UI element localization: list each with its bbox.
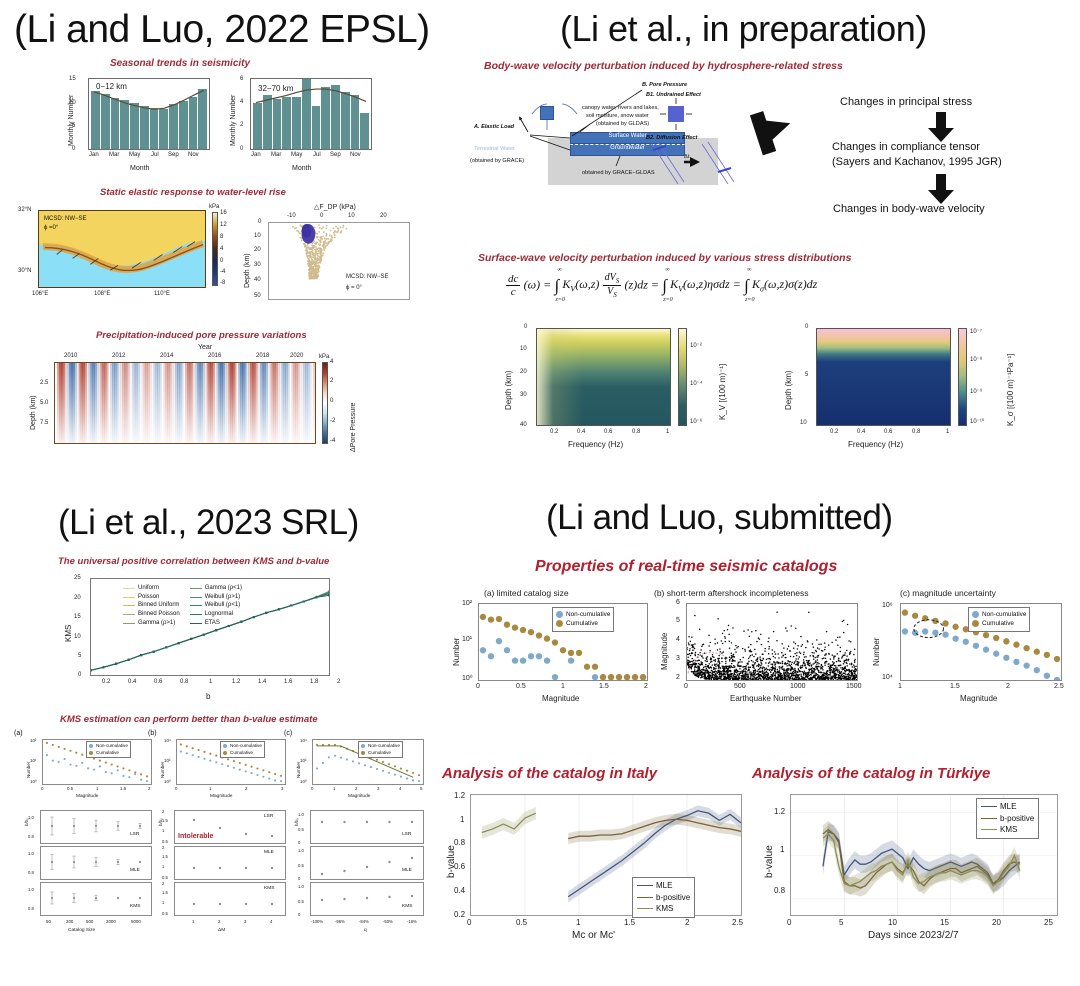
dot-swatch-icon [223, 751, 227, 755]
ytick: 10 [520, 346, 527, 352]
chart-kernel-ksigma: Depth (km) Frequency (Hz) 0 5 10 0.2 0.4… [768, 310, 1018, 460]
xtick: 1 [209, 786, 211, 791]
legend-label: Non-cumulative [96, 743, 128, 750]
legend-item: KMS [637, 903, 690, 915]
line-swatch-icon [981, 818, 997, 819]
legend-label: Cumulative [368, 750, 391, 757]
xtick: Sep [330, 152, 341, 158]
legend-label: Weibull (ρ>1) [205, 593, 240, 602]
xtick: 0.5 [67, 786, 73, 791]
kms-xlabel: b [206, 692, 210, 701]
line-swatch-icon [981, 829, 997, 830]
chart-italy-bvalue: MLE b-positive KMS b-value Mc or Mc' 0.2… [440, 790, 760, 980]
xtick: 0.2 [550, 429, 558, 435]
label-delta-t: Δt [684, 154, 689, 160]
xtick: 0.6 [604, 429, 612, 435]
xtick: 1.6 [284, 679, 292, 685]
xtick: 0 [311, 786, 313, 791]
legend-item: ETAS [190, 619, 242, 628]
xtick: 1.5 [950, 683, 960, 690]
legend-item: Cumulative [223, 750, 262, 757]
ytick: 0.8 [774, 886, 785, 895]
ytick: 10⁰ [300, 779, 307, 785]
subpanel-c-legend: Non-cumulative Cumulative [358, 741, 403, 758]
xtick: 1000 [790, 683, 806, 690]
chart-pore-pressure: Year 2010 2012 2014 2016 2018 2020 Depth… [28, 344, 398, 474]
line-swatch-icon [123, 614, 135, 615]
ytick: 2 [162, 881, 164, 886]
ytick: 0 [805, 324, 808, 330]
legend-label: Non-cumulative [368, 743, 400, 750]
heading-body-wave: Body-wave velocity perturbation induced … [484, 60, 843, 72]
ytick: 6 [240, 76, 243, 82]
xtick: 2 [355, 786, 357, 791]
line-swatch-icon [123, 605, 135, 606]
kernel-kv-xlabel: Frequency (Hz) [568, 440, 623, 449]
legend-label: Cumulative [982, 619, 1014, 628]
line-swatch-icon [190, 614, 202, 615]
ytick: 10¹ [30, 758, 36, 763]
ytick: 10² [300, 758, 306, 763]
cb-tick: 10⁻² [690, 342, 702, 349]
ytick: 6 [676, 599, 680, 606]
cb-tick: 10⁻⁴ [690, 380, 702, 387]
label-undrained-effect: B1. Undrained Effect [646, 92, 701, 98]
depth-scatter-ylabel: Depth (km) [244, 253, 251, 288]
xtick: 2 [218, 919, 220, 924]
chart-limited-catalog-size: (a) limited catalog size Non-cumulative … [444, 588, 659, 718]
turkiye-ylabel: b-value [764, 845, 775, 878]
xtick: 2 [245, 786, 247, 791]
map-features [39, 211, 205, 288]
subpanel-b-bottom-xlabel: ΔM [218, 928, 225, 933]
xtick: Nov [350, 152, 361, 158]
kernel-ksigma-heatmap [816, 328, 951, 426]
chart-aftershock-incompleteness: (b) short-term aftershock incompleteness… [652, 588, 870, 718]
xtick: 20 [380, 213, 387, 219]
subpanel-b-bottom-ylabel: b/b₀ [158, 818, 163, 826]
ytick: 0 [298, 876, 300, 881]
panel-b-points [687, 604, 857, 681]
legend-label: Gamma (ρ<1) [205, 584, 242, 593]
ytick: 5 [78, 653, 81, 659]
kernel-kv-colorbar-label: K_V [(100 m)⁻¹] [718, 364, 727, 420]
ytick: 0.8 [28, 834, 34, 839]
ytick: 0 [524, 324, 527, 330]
ytick: 20 [74, 595, 81, 601]
xtick: 1500 [846, 683, 862, 690]
legend-item: Cumulative [972, 619, 1026, 628]
ytick: 5 [676, 617, 680, 624]
depth-scatter-axes [268, 222, 410, 300]
line-swatch-icon [190, 605, 202, 606]
xtick: 2000 [106, 919, 116, 924]
ytick: 0 [298, 840, 300, 845]
ytick: 0 [78, 672, 81, 678]
xtick: 0.8 [632, 429, 640, 435]
xtick: 500 [734, 683, 746, 690]
ytick: 1.0 [298, 884, 304, 889]
pore-axes [54, 362, 316, 444]
legend-item: b-positive [981, 813, 1034, 825]
xtick: 0 [175, 786, 177, 791]
pore-ylabel: Depth (km) [30, 395, 37, 430]
panel-a-title: (a) limited catalog size [484, 588, 569, 598]
legend-item: Gamma (ρ<1) [190, 584, 242, 593]
legend-label: Cumulative [566, 619, 598, 628]
xtick: 0.2 [102, 679, 110, 685]
legend-item: Binned Uniform [123, 601, 180, 610]
ytick: 4 [240, 99, 243, 105]
italy-legend: MLE b-positive KMS [632, 877, 695, 918]
xtick: Jan [251, 152, 261, 158]
cb-tick: 12 [220, 222, 227, 228]
cb-tick: -4 [220, 269, 225, 275]
xtick: 0.4 [857, 429, 865, 435]
xtick: 1 [96, 786, 98, 791]
dot-swatch-icon [361, 744, 365, 748]
pore-colorbar-unit: kPa [319, 354, 329, 360]
map-xtick: 108°E [94, 291, 110, 297]
chart-seasonal-shallow: 0−12 km Monthly Number Month 0 5 10 15 J… [60, 72, 220, 177]
line-swatch-icon [637, 885, 653, 886]
legend-item: Non-cumulative [89, 743, 128, 750]
cb-tick: 0 [220, 258, 223, 264]
kernel-kv-colorbar [678, 328, 687, 426]
map-colorbar-unit: kPa [209, 204, 219, 210]
quadrant-title-submitted: (Li and Luo, submitted) [546, 498, 892, 538]
xtick: -96% [335, 919, 345, 924]
legend-label: Weibull (ρ<1) [205, 601, 240, 610]
panel-b-title: (b) short-term aftershock incompleteness [654, 588, 808, 598]
cb-tick: -2 [330, 418, 335, 424]
kernel-ksigma-colorbar [958, 328, 967, 426]
label-grace: (obtained by GRACE) [470, 158, 524, 164]
legend-item: Weibull (ρ<1) [190, 601, 242, 610]
chart-depth-scatter: △F_DP (kPa) Depth (km) -10 0 10 20 0 10 … [236, 200, 426, 315]
legend-item: MLE [981, 801, 1034, 813]
legend-item: Non-cumulative [223, 743, 262, 750]
cb-tick: 10⁻⁷ [970, 328, 982, 335]
legend-item: Non-cumulative [361, 743, 400, 750]
depth-scatter-points [269, 223, 409, 300]
ytick: 1.2 [774, 807, 785, 816]
xtick: 50 [46, 919, 51, 924]
subpanel-a-legend: Non-cumulative Cumulative [86, 741, 131, 758]
ytick: 2 [162, 809, 164, 814]
xtick: 1.2 [232, 679, 240, 685]
cb-tick: 10⁻⁶ [690, 418, 702, 425]
xtick: Jul [151, 152, 159, 158]
heading-surface-wave: Surface-wave velocity perturbation induc… [478, 252, 851, 264]
subpanel-group-a: (a) Non-cumulative Cumulative Number Mag… [14, 730, 160, 980]
ytick: 0.5 [162, 839, 168, 844]
legend-label: Cumulative [230, 750, 253, 757]
kernel-kv-ylabel: Depth (km) [504, 370, 513, 410]
surface-wave-equation: dc c (ω) = ∫∞z=0 KV(ω,z) dVS VS (z)dz = … [506, 272, 817, 299]
ytick: 10² [164, 758, 170, 763]
xtick: -84% [359, 919, 369, 924]
legend-label: Cumulative [96, 750, 119, 757]
legend-item: Poisson [123, 593, 180, 602]
legend-label: Binned Poisson [138, 610, 180, 619]
ytick: 2.5 [40, 380, 48, 386]
xtick: 1 [946, 429, 949, 435]
chart-turkiye-bvalue: MLE b-positive KMS b-value Days since 20… [758, 790, 1078, 980]
ytick: 3 [676, 655, 680, 662]
label-diffusion-effect: B2. Diffusion Effect [646, 135, 697, 141]
cb-tick: 8 [220, 234, 223, 240]
heading-properties-realtime: Properties of real-time seismic catalogs [535, 558, 837, 576]
legend-label: Non-cumulative [982, 610, 1026, 619]
ytick: 0.8 [28, 870, 34, 875]
panel-a-legend: Non-cumulative Cumulative [552, 607, 614, 632]
ytick: 15 [74, 614, 81, 620]
panel-a-ylabel: Number [452, 638, 461, 666]
subpanel-c-bottom-xlabel: q [364, 928, 367, 933]
xtick: May [129, 152, 140, 158]
ytick: 5 [72, 123, 75, 129]
subpanel-c-points [310, 810, 424, 916]
ytick: 30 [520, 392, 527, 398]
cb-tick: 2 [330, 378, 333, 384]
ytick: 5 [805, 372, 808, 378]
xtick: -10 [287, 213, 296, 219]
ytick: 1 [162, 900, 164, 905]
kernel-ksigma-colorbar-label: K_σ [(100 m)⁻¹Pa⁻¹] [1006, 353, 1015, 426]
xtick: -100% [311, 919, 323, 924]
legend-item: Cumulative [556, 619, 610, 628]
subpanel-group-b: (b) Non-cumulative Cumulative Number Mag… [148, 730, 294, 980]
map-colorbar [212, 212, 218, 286]
ytick: 10 [254, 233, 261, 239]
legend-label: b-positive [656, 892, 690, 904]
line-swatch-icon [637, 897, 653, 898]
flow-compliance-tensor: Changes in compliance tensor [832, 141, 980, 153]
line-swatch-icon [190, 588, 202, 589]
delta-f-dp-label: △F_DP (kPa) [314, 204, 356, 211]
cb-tick: 16 [220, 210, 227, 216]
label-terrestrial-water: Terrestrial Water [474, 146, 515, 152]
panel-c-xlabel: Magnitude [960, 694, 997, 703]
xtick: 500 [86, 919, 93, 924]
label-pore-pressure: B. Pore Pressure [642, 82, 687, 88]
ytick: 1 [162, 864, 164, 869]
ytick: 0.2 [454, 910, 465, 919]
subpanel-a-ylabel: Number [26, 762, 31, 778]
ytick: 7.5 [40, 420, 48, 426]
xtick: 2.5 [732, 918, 743, 927]
xtick: 0.8 [180, 679, 188, 685]
ytick: 0 [240, 146, 243, 152]
dot-swatch-icon [972, 620, 979, 627]
legend-item: Lognormal [190, 610, 242, 619]
xtick: 2 [337, 679, 340, 685]
ytick: 20 [254, 247, 261, 253]
xtick: Jan [89, 152, 99, 158]
panel-letter-a: (a) [14, 730, 23, 737]
xtick: 1.4 [258, 679, 266, 685]
ytick: 10² [30, 738, 36, 743]
xtick: 1 [666, 429, 669, 435]
subpanel-c-bottom-ylabel: b/b₀ [294, 818, 299, 826]
subpanel-b-legend: Non-cumulative Cumulative [220, 741, 265, 758]
legend-item: Cumulative [89, 750, 128, 757]
seasonal-deep-annotation: 32−70 km [258, 84, 293, 93]
flow-body-wave-velocity: Changes in body-wave velocity [833, 203, 985, 215]
heading-universal-correlation: The universal positive correlation betwe… [58, 556, 329, 567]
ytick: 0.5 [298, 863, 304, 868]
cb-tick: 10⁻¹⁰ [970, 418, 984, 425]
legend-item: Non-cumulative [972, 610, 1026, 619]
label-canopy-1: canopy water, rivers and lakes, [582, 105, 659, 111]
legend-item: b-positive [637, 892, 690, 904]
map-ytick-top: 32°N [18, 207, 31, 213]
panel-c-ylabel: Number [872, 638, 881, 666]
map-canvas: MCSD: NW−SE ϕ =0° [38, 210, 206, 288]
ytick: 10 [74, 634, 81, 640]
label-canopy-2: soil moisture, snow water [586, 113, 649, 119]
ytick: 10⁴ [300, 738, 307, 743]
xtick: 0 [467, 918, 471, 927]
xtick: -16% [407, 919, 417, 924]
xtick: 0.6 [154, 679, 162, 685]
kms-ylabel: KMS [64, 625, 73, 642]
xtick: 0.4 [577, 429, 585, 435]
ytick: 1.2 [454, 791, 465, 800]
xtick: 0.5 [516, 918, 527, 927]
xtick: Jul [313, 152, 321, 158]
seasonal-shallow-xlabel: Month [130, 165, 149, 172]
legend-label: MLE [1000, 801, 1016, 813]
ytick: 0.8 [28, 906, 34, 911]
ytick: 10⁰ [164, 779, 171, 785]
line-swatch-icon [123, 597, 135, 598]
cb-tick: 10⁻⁹ [970, 388, 982, 395]
ytick: 0.8 [454, 838, 465, 847]
ytick: 0.5 [162, 875, 168, 880]
map-tag-mcsd: MCSD: NW−SE [44, 216, 87, 222]
panel-letter-c: (c) [284, 730, 292, 737]
heading-static-elastic: Static elastic response to water-level r… [100, 187, 286, 198]
legend-label: Binned Uniform [138, 601, 179, 610]
ytick: 0.5 [298, 899, 304, 904]
xtick: Sep [168, 152, 179, 158]
ytick: 1.5 [162, 854, 168, 859]
legend-item: Gamma (ρ>1) [123, 619, 180, 628]
ytick: 50 [254, 293, 261, 299]
map-ytick-bot: 30°N [18, 268, 31, 274]
xtick: 1.5 [120, 786, 126, 791]
xtick: 1 [561, 683, 565, 690]
dot-swatch-icon [556, 620, 563, 627]
subpanel-a-bottom-ylabel: b/b₀ [24, 818, 29, 826]
ytick: 0.6 [454, 862, 465, 871]
poster-canvas: (Li and Luo, 2022 EPSL) Seasonal trends … [0, 0, 1080, 986]
xtick: 1 [192, 919, 194, 924]
pore-colorbar [322, 362, 328, 444]
xtick: 10 [888, 918, 897, 927]
xtick: 1 [333, 786, 335, 791]
ytick: 1.5 [162, 890, 168, 895]
depth-scatter-tag-phi: ϕ = 0° [346, 285, 362, 291]
ytick: 1 [162, 828, 164, 833]
chart-seasonal-deep: 32−70 km Monthly Number Month 0 2 4 6 Ja… [222, 72, 382, 177]
xtick: 0.8 [912, 429, 920, 435]
quadrant-title-srl: (Li et al., 2023 SRL) [58, 503, 359, 543]
xtick: 4 [270, 919, 272, 924]
subpanel-a-errorbars [40, 810, 152, 916]
chart-kernel-kv: Depth (km) Frequency (Hz) 0 10 20 30 40 … [490, 310, 730, 460]
xtick: Mar [109, 152, 119, 158]
xtick: Nov [188, 152, 199, 158]
xtick: 0.2 [830, 429, 838, 435]
ytick: 0 [298, 912, 300, 917]
xtick: 2.5 [1054, 683, 1064, 690]
line-swatch-icon [123, 588, 135, 589]
dot-swatch-icon [223, 744, 227, 748]
xtick: 0.6 [884, 429, 892, 435]
flow-compliance-citation: (Sayers and Kachanov, 1995 JGR) [832, 156, 1002, 168]
label-grace-gldas: obtained by GRACE−GLDAS [582, 170, 655, 176]
quadrant-title-in-preparation: (Li et al., in preparation) [560, 8, 927, 50]
xtick: 5 [420, 786, 422, 791]
xtick: 1.8 [310, 679, 318, 685]
xtick: 3 [377, 786, 379, 791]
ytick: 2 [676, 674, 680, 681]
xtick: 5 [839, 918, 843, 927]
xtick: 3 [244, 919, 246, 924]
legend-label: KMS [1000, 824, 1017, 836]
heading-seasonal-trends: Seasonal trends in seismicity [110, 58, 250, 69]
ytick: 10⁰ [462, 674, 473, 682]
depth-scatter-tag-mcsd: MCSD: NW−SE [346, 274, 389, 280]
pore-xlabel: Year [198, 344, 212, 351]
line-swatch-icon [123, 623, 135, 624]
ytick: 10⁶ [882, 602, 893, 609]
xtick: 1 [898, 683, 902, 690]
chart-kms-vs-b: Uniform Poisson Binned Uniform Binned Po… [56, 572, 356, 702]
xtick: 5000 [131, 919, 141, 924]
ytick: 0.4 [454, 886, 465, 895]
xtick: 2016 [208, 353, 221, 359]
xtick: May [291, 152, 302, 158]
xtick: -50% [383, 919, 393, 924]
ytick: 15 [69, 76, 76, 82]
legend-label: Poisson [138, 593, 159, 602]
ytick: 0.5 [162, 911, 168, 916]
ytick: 10⁰ [30, 779, 37, 785]
pore-stripes [55, 363, 315, 444]
cb-tick: 4 [220, 246, 223, 252]
xtick: 2 [644, 683, 648, 690]
panel-b-xlabel: Earthquake Number [730, 694, 802, 703]
xtick: 20 [992, 918, 1001, 927]
ytick: 25 [74, 575, 81, 581]
panel-c-title: (c) magnitude uncertainty [900, 588, 996, 598]
xtick: 0 [787, 918, 791, 927]
ytick: 1 [460, 815, 464, 824]
kernel-ksigma-xlabel: Frequency (Hz) [848, 440, 903, 449]
flow-arrow-1 [928, 112, 954, 142]
map-tag-phi: ϕ =0° [44, 225, 58, 231]
line-swatch-icon [190, 597, 202, 598]
xtick: 15 [940, 918, 949, 927]
subpanel-c-ylabel: Number [296, 762, 301, 778]
xtick: 0 [684, 683, 688, 690]
chart-static-map: MCSD: NW−SE ϕ =0° 32°N 30°N 106°E 108°E … [18, 202, 228, 312]
ytick: 10 [69, 100, 76, 106]
